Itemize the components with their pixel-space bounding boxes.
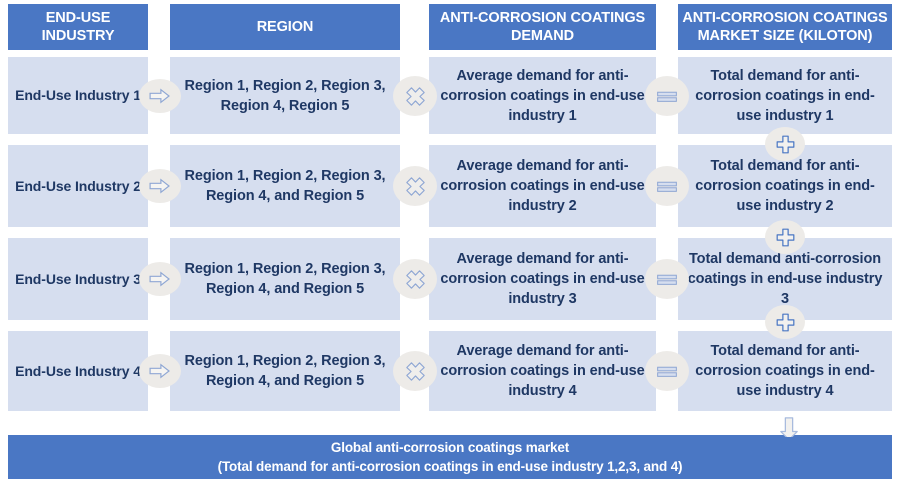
cell-text: Total demand anti-corrosion coatings in … [684,249,886,309]
equals-icon [645,166,689,206]
table-row-1-industry-cell: End-Use Industry 1 [8,57,148,134]
table-row-2-demand-cell: Average demand for anti-corrosion coatin… [429,145,656,227]
cell-text: Total demand for anti-corrosion coatings… [684,66,886,126]
cell-text: Region 1, Region 2, Region 3, Region 4, … [176,351,394,391]
cell-text: Total demand for anti-corrosion coatings… [684,341,886,401]
arrow-down-icon [772,412,806,442]
table-row-3-region-cell: Region 1, Region 2, Region 3, Region 4, … [170,238,400,320]
cell-text: Average demand for anti-corrosion coatin… [435,249,650,309]
table-row-4-industry-cell: End-Use Industry 4 [8,331,148,411]
column-header-market-size: ANTI-CORROSION COATINGS MARKET SIZE (KIL… [678,4,892,50]
table-row-4-demand-cell: Average demand for anti-corrosion coatin… [429,331,656,411]
plus-icon [765,127,805,161]
multiply-icon [393,351,437,391]
table-row-1-region-cell: Region 1, Region 2, Region 3, Region 4, … [170,57,400,134]
cell-text: Region 1, Region 2, Region 3, Region 4, … [176,259,394,299]
table-row-2-region-cell: Region 1, Region 2, Region 3, Region 4, … [170,145,400,227]
column-header-label: ANTI-CORROSION COATINGS DEMAND [432,9,653,45]
cell-text: Average demand for anti-corrosion coatin… [435,156,650,216]
arrow-right-icon [139,262,181,296]
cell-text: End-Use Industry 4 [14,361,142,382]
column-header-label: REGION [173,18,397,36]
cell-text: Region 1, Region 2, Region 3, Region 4, … [176,166,394,206]
cell-text: End-Use Industry 1 [14,85,142,106]
equals-icon [645,351,689,391]
column-header-region: REGION [170,4,400,50]
table-row-1-market-size-cell: Total demand for anti-corrosion coatings… [678,57,892,134]
table-row-3-demand-cell: Average demand for anti-corrosion coatin… [429,238,656,320]
cell-text: Average demand for anti-corrosion coatin… [435,66,650,126]
arrow-right-icon [139,79,181,113]
global-market-banner: Global anti-corrosion coatings market (T… [8,435,892,479]
market-size-estimation-diagram: END-USE INDUSTRY REGION ANTI-CORROSION C… [0,0,900,483]
table-row-2-industry-cell: End-Use Industry 2 [8,145,148,227]
plus-icon [765,220,805,254]
banner-line-1: Global anti-corrosion coatings market [8,438,892,457]
table-row-3-industry-cell: End-Use Industry 3 [8,238,148,320]
plus-icon [765,305,805,339]
multiply-icon [393,166,437,206]
column-header-end-use-industry: END-USE INDUSTRY [8,4,148,50]
multiply-icon [393,259,437,299]
multiply-icon [393,76,437,116]
equals-icon [645,259,689,299]
equals-icon [645,76,689,116]
cell-text: Total demand for anti-corrosion coatings… [684,156,886,216]
banner-line-2: (Total demand for anti-corrosion coating… [8,457,892,476]
table-row-4-market-size-cell: Total demand for anti-corrosion coatings… [678,331,892,411]
cell-text: End-Use Industry 2 [14,176,142,197]
column-header-label: ANTI-CORROSION COATINGS MARKET SIZE (KIL… [681,9,889,45]
table-row-1-demand-cell: Average demand for anti-corrosion coatin… [429,57,656,134]
column-header-label: END-USE INDUSTRY [11,9,145,45]
cell-text: Average demand for anti-corrosion coatin… [435,341,650,401]
table-row-4-region-cell: Region 1, Region 2, Region 3, Region 4, … [170,331,400,411]
arrow-right-icon [139,354,181,388]
arrow-right-icon [139,169,181,203]
cell-text: Region 1, Region 2, Region 3, Region 4, … [176,76,394,116]
cell-text: End-Use Industry 3 [14,269,142,290]
column-header-demand: ANTI-CORROSION COATINGS DEMAND [429,4,656,50]
